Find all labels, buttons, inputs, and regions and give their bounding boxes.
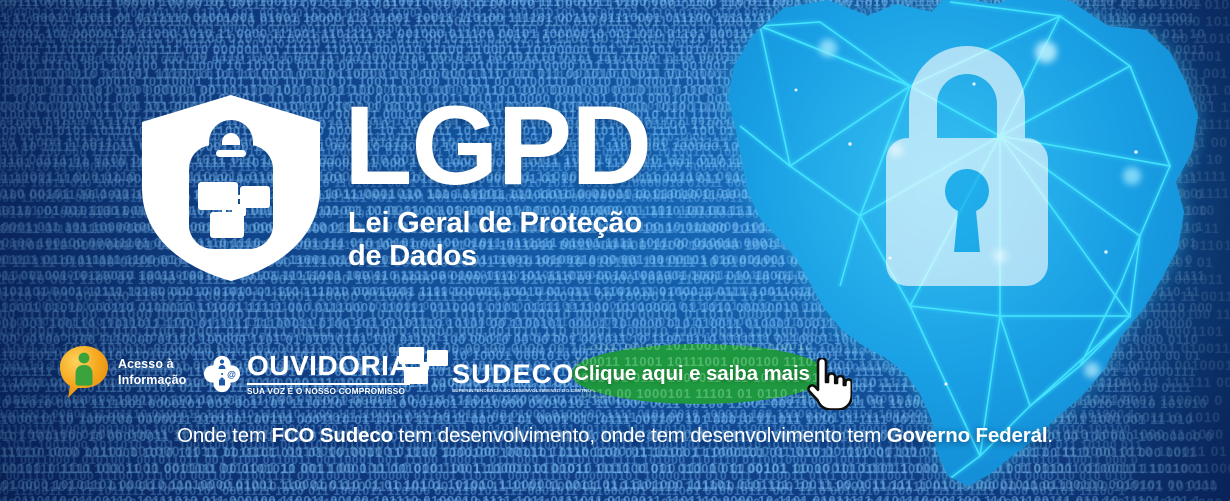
subtitle-line-1: Lei Geral de Proteção [348,207,674,239]
tagline-part-3: . [1047,424,1053,447]
partner-logos-row: Acesso à Informação @ [0,344,560,406]
logo-acesso-a-informacao[interactable]: Acesso à Informação [58,344,186,400]
ouvidoria-slogan: SUA VOZ É O NOSSO COMPROMISSO [247,387,410,395]
page-subtitle: Lei Geral de Proteção de Dados [348,207,674,272]
ouvidoria-divider [247,383,410,385]
acesso-line-2: Informação [118,372,186,388]
tagline-part-1: Onde tem [177,424,271,447]
svg-text:@: @ [227,369,236,379]
logo-acesso-label: Acesso à Informação [118,356,186,388]
cta-label: Clique aqui e saiba mais [572,344,826,404]
sudeco-squares-icon [398,346,450,386]
logo-ouvidoria[interactable]: @ OUVIDORIA SUA VOZ É O NOSSO COMPROMISS… [202,352,410,395]
lgpd-wordmark: LGPD Lei Geral de Proteção de Dados [344,94,674,272]
tagline-bold-1: FCO Sudeco [271,424,393,447]
sudeco-title: SUDECO [452,363,575,386]
page-title: LGPD [344,94,674,197]
tagline-bold-2: Governo Federal [887,424,1048,447]
shield-lock-data-icon [136,92,326,284]
info-speech-bubble-icon [58,344,110,400]
saiba-mais-button[interactable]: 1111011 10100 10110010 0011 110010 11000… [572,344,826,404]
subtitle-line-2: de Dados [348,240,674,272]
ouvidoria-title: OUVIDORIA [247,352,410,380]
acesso-line-1: Acesso à [118,356,186,372]
ouvidoria-circles-icon: @ [202,354,242,394]
tagline: Onde tem FCO Sudeco tem desenvolvimento,… [0,424,1230,448]
tagline-part-2: tem desenvolvimento, onde tem desenvolvi… [393,424,887,447]
lgpd-banner: 01011100 0101111 00000 100 00101 100 100… [0,0,1230,501]
